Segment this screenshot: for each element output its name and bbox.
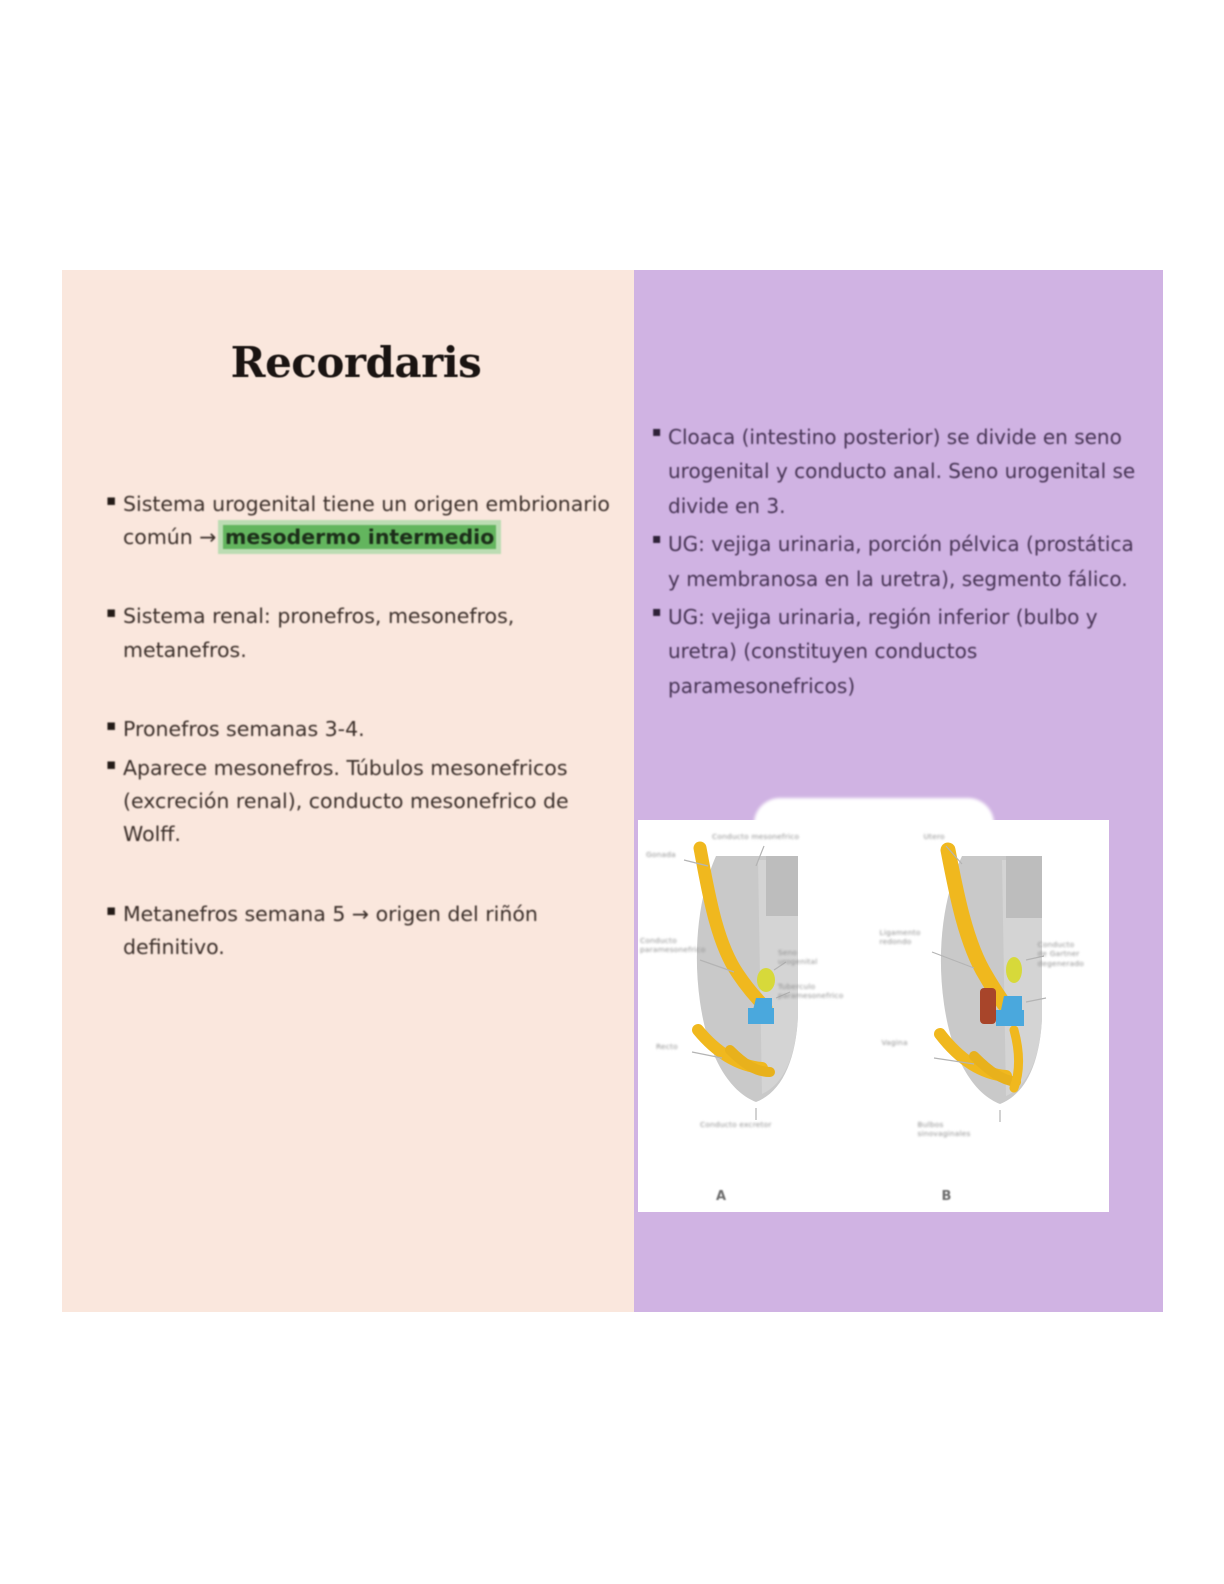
list-item-text: Pronefros semanas 3-4.: [123, 713, 612, 746]
figure-card: Gonada Conducto mesonefrico Conducto par…: [638, 820, 1109, 1212]
bullet-marker: ▪: [652, 527, 668, 551]
list-item-text: Sistema renal: pronefros, mesonefros, me…: [123, 600, 612, 666]
bullet-marker: ▪: [106, 752, 123, 776]
slide-canvas: Recordaris ▪ Sistema urogenital tiene un…: [62, 270, 1163, 1312]
spacer: [106, 852, 612, 898]
spacer: [106, 667, 612, 713]
spacer: [106, 554, 612, 600]
list-item: ▪ Cloaca (intestino posterior) se divide…: [652, 420, 1141, 523]
figure-label: Ligamento redondo: [880, 928, 921, 947]
left-bullet-list: ▪ Sistema urogenital tiene un origen emb…: [106, 488, 612, 964]
duct-junction-b: [1006, 957, 1022, 983]
bullet-marker: ▪: [106, 488, 123, 512]
highlighted-term: mesodermo intermedio: [223, 525, 496, 549]
sinus-lumen-b: [996, 1010, 1024, 1026]
figure-label: Utero: [924, 832, 945, 841]
figure-label: Recto: [656, 1042, 678, 1051]
list-item: ▪ UG: vejiga urinaria, porción pélvica (…: [652, 527, 1141, 596]
figure-label: Conducto mesonefrico: [712, 832, 799, 841]
list-item: ▪ Aparece mesonefros. Túbulos mesonefric…: [106, 752, 612, 852]
uterus-body-a: [766, 856, 798, 916]
list-item: ▪ Sistema renal: pronefros, mesonefros, …: [106, 600, 612, 666]
list-item-text: Metanefros semana 5 → origen del riñón d…: [123, 898, 612, 964]
list-item: ▪ Sistema urogenital tiene un origen emb…: [106, 488, 612, 554]
bullet-marker: ▪: [106, 898, 123, 922]
right-bullet-list: ▪ Cloaca (intestino posterior) se divide…: [652, 420, 1141, 707]
embryo-diagram-b: [874, 820, 1110, 1212]
figure-label: Seno urogenital: [778, 948, 818, 967]
list-item-text: Aparece mesonefros. Túbulos mesonefricos…: [123, 752, 612, 852]
list-item: ▪ Metanefros semana 5 → origen del riñón…: [106, 898, 612, 964]
page-title: Recordaris: [62, 338, 634, 387]
figure-label: Tuberculo paramesonefrico: [778, 982, 843, 1001]
figure-panel-b: Utero Ligamento redondo Conducto de Gart…: [874, 820, 1110, 1212]
right-content-panel: ▪ Cloaca (intestino posterior) se divide…: [634, 270, 1163, 1312]
figure-label: Conducto paramesonefrico: [640, 936, 705, 955]
bullet-marker: ▪: [106, 600, 123, 624]
figure-panel-letter: A: [716, 1189, 726, 1204]
vaginal-duct-b: [1014, 1030, 1019, 1088]
figure-label: Conducto de Gartner degenerado: [1038, 940, 1085, 968]
embryo-diagram-a: [638, 820, 874, 1212]
bullet-marker: ▪: [106, 713, 123, 737]
list-item-text: Cloaca (intestino posterior) se divide e…: [668, 420, 1141, 523]
figure-label: Conducto excretor: [700, 1120, 772, 1129]
figure-label: Gonada: [646, 850, 676, 859]
list-item-text: Sistema urogenital tiene un origen embri…: [123, 488, 612, 554]
bullet-marker: ▪: [652, 420, 668, 444]
uterus-body-b: [1006, 856, 1042, 918]
list-item-text: UG: vejiga urinaria, porción pélvica (pr…: [668, 527, 1141, 596]
duct-junction-a: [757, 968, 775, 992]
bullet-marker: ▪: [652, 600, 668, 624]
figure-label: Bulbos sinovaginales: [918, 1120, 971, 1139]
list-item-text: UG: vejiga urinaria, región inferior (bu…: [668, 600, 1141, 703]
sinus-lumen-a: [748, 1008, 774, 1024]
list-item: ▪ UG: vejiga urinaria, región inferior (…: [652, 600, 1141, 703]
degenerating-duct-b: [980, 988, 996, 1024]
figure-panel-letter: B: [942, 1189, 952, 1204]
left-content-panel: Recordaris ▪ Sistema urogenital tiene un…: [62, 270, 634, 1312]
figure-label: Vagina: [882, 1038, 908, 1047]
figure-panel-a: Gonada Conducto mesonefrico Conducto par…: [638, 820, 874, 1212]
list-item: ▪ Pronefros semanas 3-4.: [106, 713, 612, 746]
